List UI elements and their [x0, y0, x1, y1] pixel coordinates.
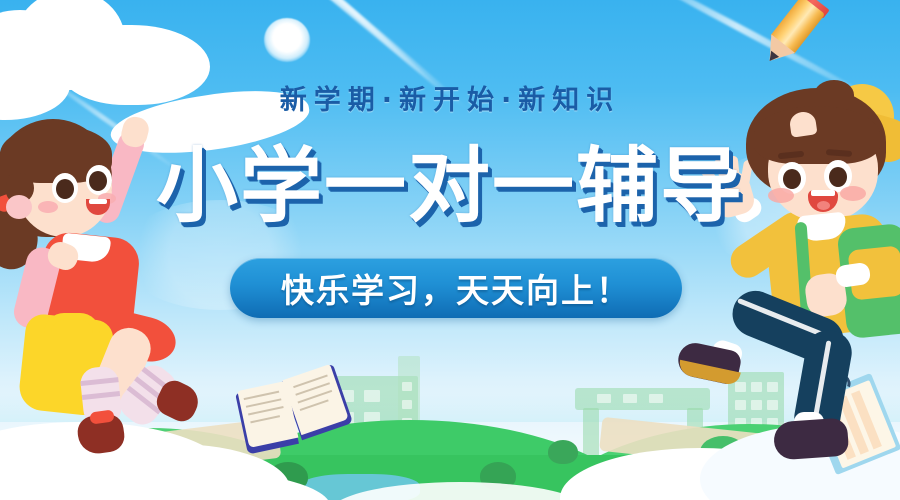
banner-title: 小学一对一辅导 [0, 146, 900, 228]
boy-shoe [773, 417, 849, 460]
banner-root: 新学期·新开始·新知识 小学一对一辅导 快乐学习，天天向上！ [0, 0, 900, 500]
cta-pill-button[interactable]: 快乐学习，天天向上！ [230, 258, 682, 318]
boy-student [690, 78, 900, 468]
banner-subtitle: 新学期·新开始·新知识 [0, 78, 900, 117]
girl-backpack-handle [44, 313, 100, 338]
cta-label: 快乐学习，天天向上！ [281, 264, 631, 312]
tree-icon [548, 440, 578, 464]
